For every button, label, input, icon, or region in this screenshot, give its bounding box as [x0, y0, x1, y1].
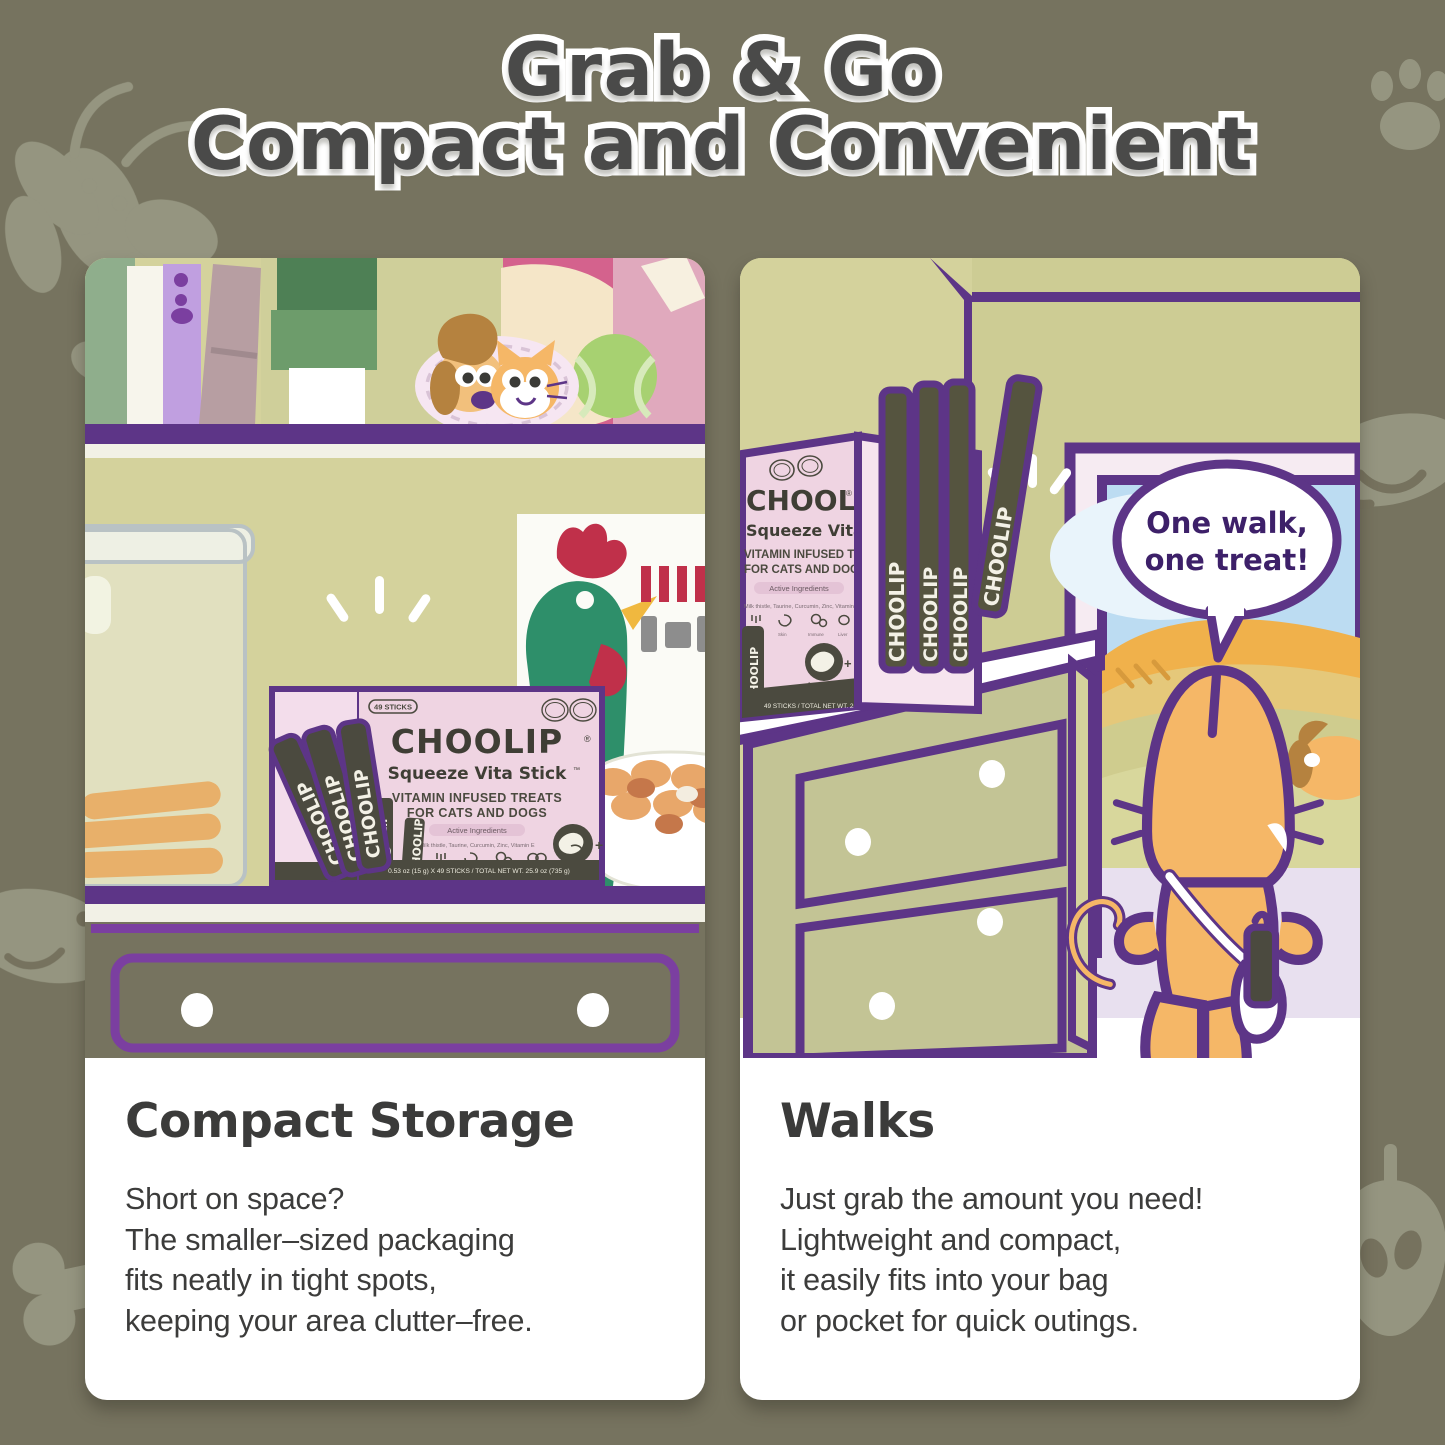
svg-text:Milk thistle, Taurine, Curcumi: Milk thistle, Taurine, Curcumin, Zinc, V… — [744, 604, 859, 610]
page-header: Grab & Go Compact and Convenient — [0, 34, 1445, 183]
svg-text:™: ™ — [573, 767, 580, 774]
svg-text:CHOOLIP: CHOOLIP — [920, 567, 942, 662]
choolip-package-left: 49 STICKS CHOOLIP ® Squeeze Vita Stick ™… — [268, 686, 605, 886]
svg-text:One walk,: One walk, — [1146, 506, 1308, 540]
scene-entryway-door: One walk, one treat! — [740, 258, 1360, 1058]
card-title: Walks — [780, 1094, 1322, 1149]
svg-text:Active Ingredients: Active Ingredients — [769, 584, 829, 593]
card-line: The smaller–sized packaging — [125, 1220, 667, 1261]
svg-text:0.53 oz (15 g) X 49 STICKS / T: 0.53 oz (15 g) X 49 STICKS / TOTAL NET W… — [388, 868, 570, 875]
card-line: Lightweight and compact, — [780, 1220, 1322, 1261]
svg-text:FOR CATS AND DOGS: FOR CATS AND DOGS — [744, 564, 867, 576]
card-title: Compact Storage — [125, 1094, 667, 1149]
panel-walks[interactable]: One walk, one treat! — [740, 258, 1360, 1400]
svg-text:CHOOLIP: CHOOLIP — [391, 722, 563, 761]
svg-text:Active Ingredients: Active Ingredients — [447, 826, 507, 835]
svg-text:®: ® — [846, 489, 852, 498]
card-line: Just grab the amount you need! — [780, 1179, 1322, 1220]
panel-compact-storage[interactable]: 49 STICKS CHOOLIP ® Squeeze Vita Stick ™… — [85, 258, 705, 1400]
card-line: Short on space? — [125, 1179, 667, 1220]
svg-text:®: ® — [584, 734, 591, 744]
svg-text:Liver: Liver — [838, 632, 848, 637]
card-walks: Walks Just grab the amount you need! Lig… — [740, 1058, 1360, 1400]
svg-text:FOR CATS AND DOGS: FOR CATS AND DOGS — [407, 806, 547, 820]
svg-text:Milk thistle, Taurine, Curcumi: Milk thistle, Taurine, Curcumin, Zinc, V… — [419, 843, 534, 849]
svg-text:+: + — [595, 837, 603, 853]
svg-text:CHOOLIP: CHOOLIP — [950, 567, 972, 662]
card-line: or pocket for quick outings. — [780, 1301, 1322, 1342]
card-line: it easily fits into your bag — [780, 1260, 1322, 1301]
card-line: keeping your area clutter–free. — [125, 1301, 667, 1342]
svg-text:Skin: Skin — [778, 632, 787, 637]
svg-text:+: + — [844, 656, 852, 671]
svg-text:Immune: Immune — [808, 632, 824, 637]
header-line-2: Compact and Convenient — [0, 108, 1445, 182]
header-line-1: Grab & Go — [0, 34, 1445, 108]
svg-text:49 STICKS: 49 STICKS — [374, 703, 412, 712]
svg-text:CHOOLIP: CHOOLIP — [885, 562, 909, 662]
card-body: Short on space? The smaller–sized packag… — [125, 1179, 667, 1341]
card-body: Just grab the amount you need! Lightweig… — [780, 1179, 1322, 1341]
card-compact-storage: Compact Storage Short on space? The smal… — [85, 1058, 705, 1400]
svg-text:VITAMIN INFUSED TREATS: VITAMIN INFUSED TREATS — [392, 791, 562, 805]
svg-text:Squeeze Vita Stick: Squeeze Vita Stick — [388, 764, 567, 784]
card-line: fits neatly in tight spots, — [125, 1260, 667, 1301]
scene-pantry-shelf: 49 STICKS CHOOLIP ® Squeeze Vita Stick ™… — [85, 258, 705, 1058]
svg-text:one treat!: one treat! — [1145, 543, 1310, 577]
